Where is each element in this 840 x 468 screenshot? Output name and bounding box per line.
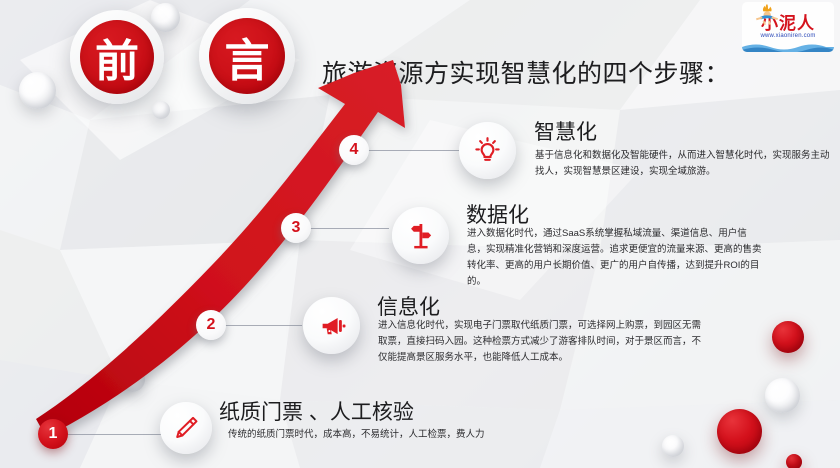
step-bullet-4-label: 4 [350, 141, 359, 159]
step-title-1: 纸质门票 、人工核验 [219, 396, 414, 426]
presentation-slide: 前 言 旅游资源方实现智慧化的四个步骤： 1 [0, 0, 840, 468]
step-bullet-4[interactable]: 4 [339, 135, 369, 165]
step-bullet-3-label: 3 [292, 219, 301, 237]
step-body-2: 进入信息化时代，实现电子门票取代纸质门票，可选择网上购票，到园区无需取票，直接扫… [378, 318, 706, 366]
step-body-4: 基于信息化和数据化及智能硬件，从而进入智慧化时代，实现服务主动找人，实现智慧景区… [535, 148, 833, 180]
step-icon-disc-2[interactable] [303, 297, 360, 354]
megaphone-icon [317, 311, 347, 341]
step-bullet-2[interactable]: 2 [196, 310, 226, 340]
lightbulb-icon [472, 135, 503, 166]
step-body-3: 进入数据化时代，通过SaaS系统掌握私域流量、渠道信息、用户信息，实现精准化营销… [467, 226, 762, 290]
signpost-icon [406, 221, 436, 251]
pencil-icon [171, 413, 201, 443]
brand-logo[interactable]: 小泥人 www.xiaoniren.com [742, 2, 834, 52]
step-bullet-1-label: 1 [49, 425, 58, 443]
step-title-2: 信息化 [377, 291, 440, 321]
brand-logo-url: www.xiaoniren.com [760, 32, 815, 40]
step-icon-disc-1[interactable] [160, 402, 212, 454]
step-title-4: 智慧化 [534, 116, 597, 146]
connector-line-1 [52, 434, 170, 435]
logo-wave-icon [742, 40, 834, 52]
step-bullet-2-label: 2 [207, 316, 216, 334]
step-body-1: 传统的纸质门票时代，成本高，不易统计，人工检票，费人力 [228, 427, 528, 443]
step-bullet-3[interactable]: 3 [281, 213, 311, 243]
step-title-3: 数据化 [466, 199, 529, 229]
flame-mascot-icon [754, 3, 780, 25]
step-bullet-1[interactable]: 1 [38, 419, 68, 449]
step-icon-disc-4[interactable] [459, 122, 516, 179]
step-icon-disc-3[interactable] [392, 207, 449, 264]
